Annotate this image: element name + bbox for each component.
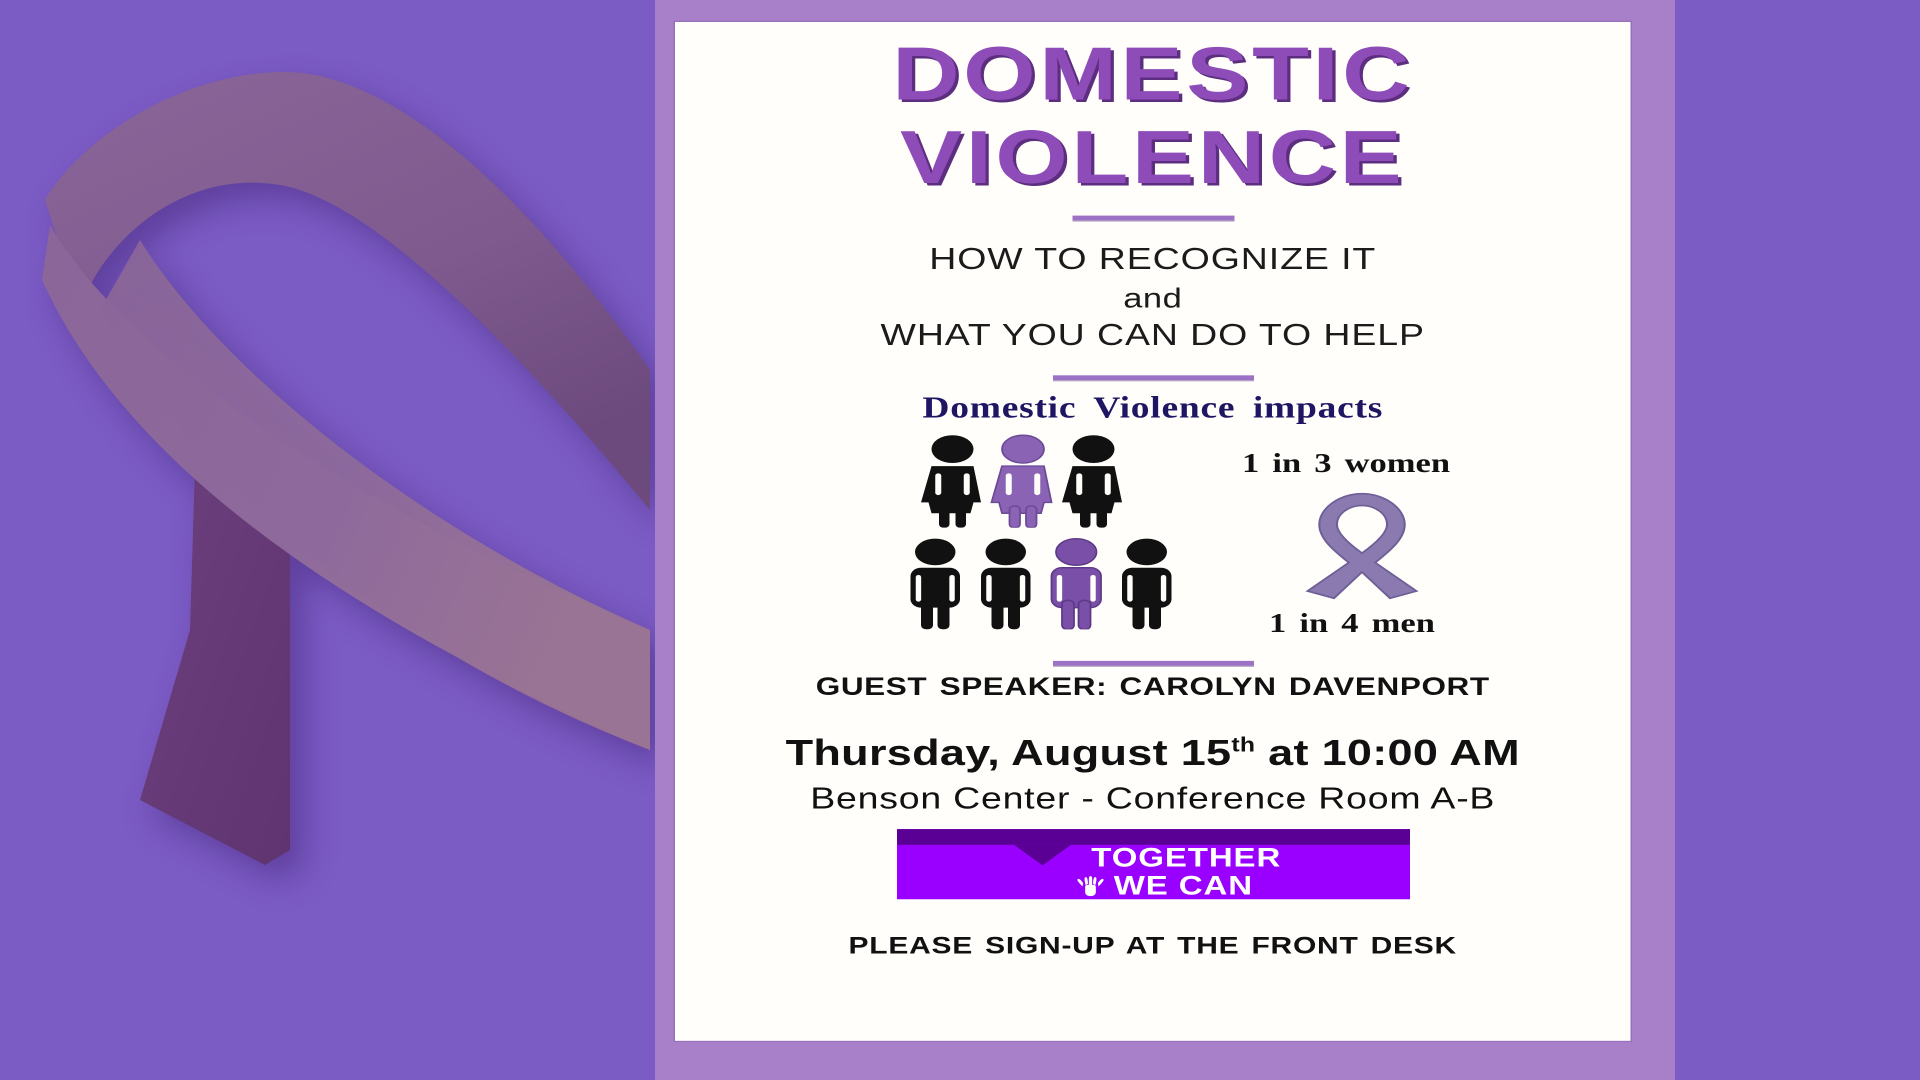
- purple-ribbon-icon: [1281, 482, 1443, 613]
- title-line-2: VIOLENCE: [675, 122, 1631, 196]
- banner-line-we-can: WE CAN: [1073, 872, 1400, 899]
- poster-screenshot: DOMESTIC VIOLENCE HOW TO RECOGNIZE IT an…: [0, 0, 1920, 1080]
- poster-page: DOMESTIC VIOLENCE HOW TO RECOGNIZE IT an…: [675, 22, 1631, 1041]
- event-time: at 10:00 AM: [1255, 733, 1520, 773]
- man-figure-icon: [903, 537, 968, 629]
- figures-area: 1 in 3 women 1 in 4 men: [675, 428, 1631, 641]
- subtitle-line-3: WHAT YOU CAN DO TO HELP: [675, 316, 1631, 356]
- poster-subtitle-block: HOW TO RECOGNIZE IT and WHAT YOU CAN DO …: [675, 239, 1631, 380]
- left-background-panel: [0, 0, 655, 1080]
- title-divider: [1072, 215, 1234, 220]
- together-we-can-banner: TOGETHER WE CAN: [896, 829, 1409, 899]
- event-venue-line: Benson Center - Conference Room A-B: [675, 782, 1631, 817]
- women-stat-label: 1 in 3 women: [1242, 448, 1450, 479]
- man-figure-icon: [1115, 537, 1180, 629]
- event-date-prefix: Thursday, August 15: [786, 733, 1232, 773]
- banner-line-together: TOGETHER: [1073, 846, 1400, 871]
- man-figure-icon: [974, 537, 1039, 629]
- event-date-line: Thursday, August 15th at 10:00 AM: [675, 733, 1631, 774]
- awareness-ribbon-graphic: [0, 10, 650, 1080]
- banner-chevron-icon: [1013, 845, 1070, 866]
- poster-title-block: DOMESTIC VIOLENCE: [675, 22, 1631, 220]
- banner-we-can-text: WE CAN: [1114, 872, 1253, 899]
- hands-icon: [1073, 872, 1106, 899]
- woman-figure-icon: [920, 433, 986, 527]
- right-background-panel: [1675, 0, 1920, 1080]
- subtitle-line-1: HOW TO RECOGNIZE IT: [675, 239, 1631, 279]
- banner-text-group: TOGETHER WE CAN: [1073, 846, 1400, 899]
- man-figure-icon-highlighted: [1044, 537, 1109, 629]
- subtitle-line-2: and: [675, 279, 1631, 316]
- guest-speaker-line: GUEST SPEAKER: CAROLYN DAVENPORT: [675, 673, 1631, 702]
- signup-footer-line: PLEASE SIGN-UP AT THE FRONT DESK: [675, 933, 1631, 961]
- impacts-heading: Domestic Violence impacts: [675, 392, 1631, 426]
- event-date-ordinal-suffix: th: [1231, 735, 1255, 757]
- women-figure-row: [920, 433, 1127, 527]
- subtitle-divider: [1052, 375, 1253, 380]
- men-figure-row: [903, 537, 1179, 629]
- infographic-divider: [1052, 661, 1253, 666]
- woman-figure-icon: [1061, 433, 1127, 527]
- impact-infographic: Domestic Violence impacts: [675, 392, 1631, 649]
- woman-figure-icon-highlighted: [990, 433, 1056, 527]
- title-line-1: DOMESTIC: [675, 39, 1631, 113]
- poster-mat-frame: DOMESTIC VIOLENCE HOW TO RECOGNIZE IT an…: [655, 0, 1675, 1080]
